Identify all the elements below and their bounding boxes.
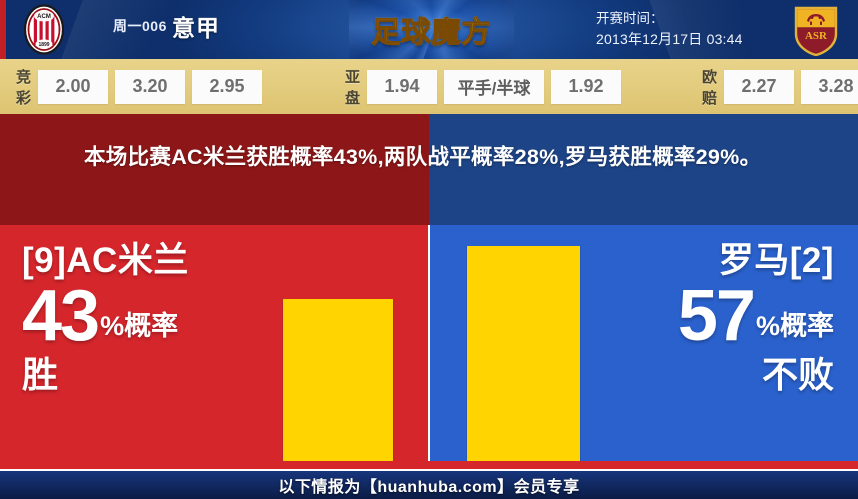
- ac-milan-crest-icon: ACM 1899: [18, 3, 70, 56]
- away-team-name: 罗马[2]: [678, 241, 834, 281]
- odds-cell-away[interactable]: 2.95: [192, 70, 262, 104]
- brand-logo-text: 足球魔方: [371, 9, 491, 51]
- kickoff-time: 2013年12月17日 03:44: [596, 29, 782, 50]
- odds-group-label: 欧赔: [702, 66, 717, 108]
- svg-text:1899: 1899: [38, 42, 49, 48]
- svg-text:ACM: ACM: [37, 14, 51, 20]
- odds-cell-handicap[interactable]: 平手/半球: [444, 70, 544, 104]
- footer-text: 以下情报为【huanhuba.com】会员专享: [278, 473, 579, 497]
- odds-group-european: 欧赔 2.27 3.28 3.06: [702, 66, 858, 108]
- away-team-stats: 罗马[2] 57 %概率 不败: [678, 241, 834, 397]
- home-team-panel: [9]AC米兰 43 %概率 胜: [0, 225, 428, 461]
- summary-text: 本场比赛AC米兰获胜概率43%,两队战平概率28%,罗马获胜概率29%。: [84, 141, 784, 174]
- home-team-name: [9]AC米兰: [22, 241, 189, 281]
- odds-cell-home[interactable]: 2.00: [38, 70, 108, 104]
- kickoff-info: 开赛时间： 2013年12月17日 03:44: [596, 8, 782, 50]
- match-prediction-screen: ACM 1899 周一006 意甲 足球魔方 开赛时间： 2013年12月17日…: [0, 0, 858, 499]
- away-probability-bar: [467, 246, 580, 461]
- home-verdict: 胜: [22, 353, 189, 397]
- svg-text:ASR: ASR: [805, 30, 828, 42]
- odds-cell-home[interactable]: 2.27: [724, 70, 794, 104]
- odds-group-label: 竞彩: [16, 66, 31, 108]
- header-accent-stripe: [0, 0, 6, 59]
- odds-cell-away[interactable]: 1.92: [551, 70, 621, 104]
- as-roma-crest-icon: ASR: [790, 4, 842, 56]
- odds-group-asian-handicap: 亚盘 1.94 平手/半球 1.92: [345, 66, 628, 108]
- match-number: 周一006: [113, 16, 167, 36]
- footer-bar: 以下情报为【huanhuba.com】会员专享: [0, 471, 858, 499]
- odds-group-jingcai: 竞彩 2.00 3.20 2.95: [16, 66, 269, 108]
- header-bar: ACM 1899 周一006 意甲 足球魔方 开赛时间： 2013年12月17日…: [0, 0, 858, 59]
- odds-cell-home[interactable]: 1.94: [367, 70, 437, 104]
- home-probability-bar: [283, 299, 393, 461]
- brand-logo: 足球魔方: [349, 0, 514, 59]
- odds-cell-draw[interactable]: 3.20: [115, 70, 185, 104]
- footer-accent-bar: [0, 461, 858, 469]
- kickoff-label: 开赛时间：: [596, 8, 782, 29]
- away-verdict: 不败: [678, 353, 834, 397]
- odds-cell-draw[interactable]: 3.28: [801, 70, 858, 104]
- away-percent-row: 57 %概率: [678, 283, 834, 349]
- home-percent-unit: %概率: [98, 313, 178, 349]
- odds-bar: 竞彩 2.00 3.20 2.95 亚盘 1.94 平手/半球 1.92 欧赔 …: [0, 59, 858, 114]
- odds-group-label: 亚盘: [345, 66, 360, 108]
- league-name: 意甲: [172, 9, 220, 43]
- home-percent-value: 43: [22, 283, 98, 349]
- probability-panels: [9]AC米兰 43 %概率 胜 罗马[2] 57 %概率 不败: [0, 225, 858, 461]
- away-percent-value: 57: [678, 283, 754, 349]
- away-percent-unit: %概率: [754, 313, 834, 349]
- away-team-panel: 罗马[2] 57 %概率 不败: [430, 225, 858, 461]
- home-percent-row: 43 %概率: [22, 283, 189, 349]
- home-team-stats: [9]AC米兰 43 %概率 胜: [22, 241, 189, 397]
